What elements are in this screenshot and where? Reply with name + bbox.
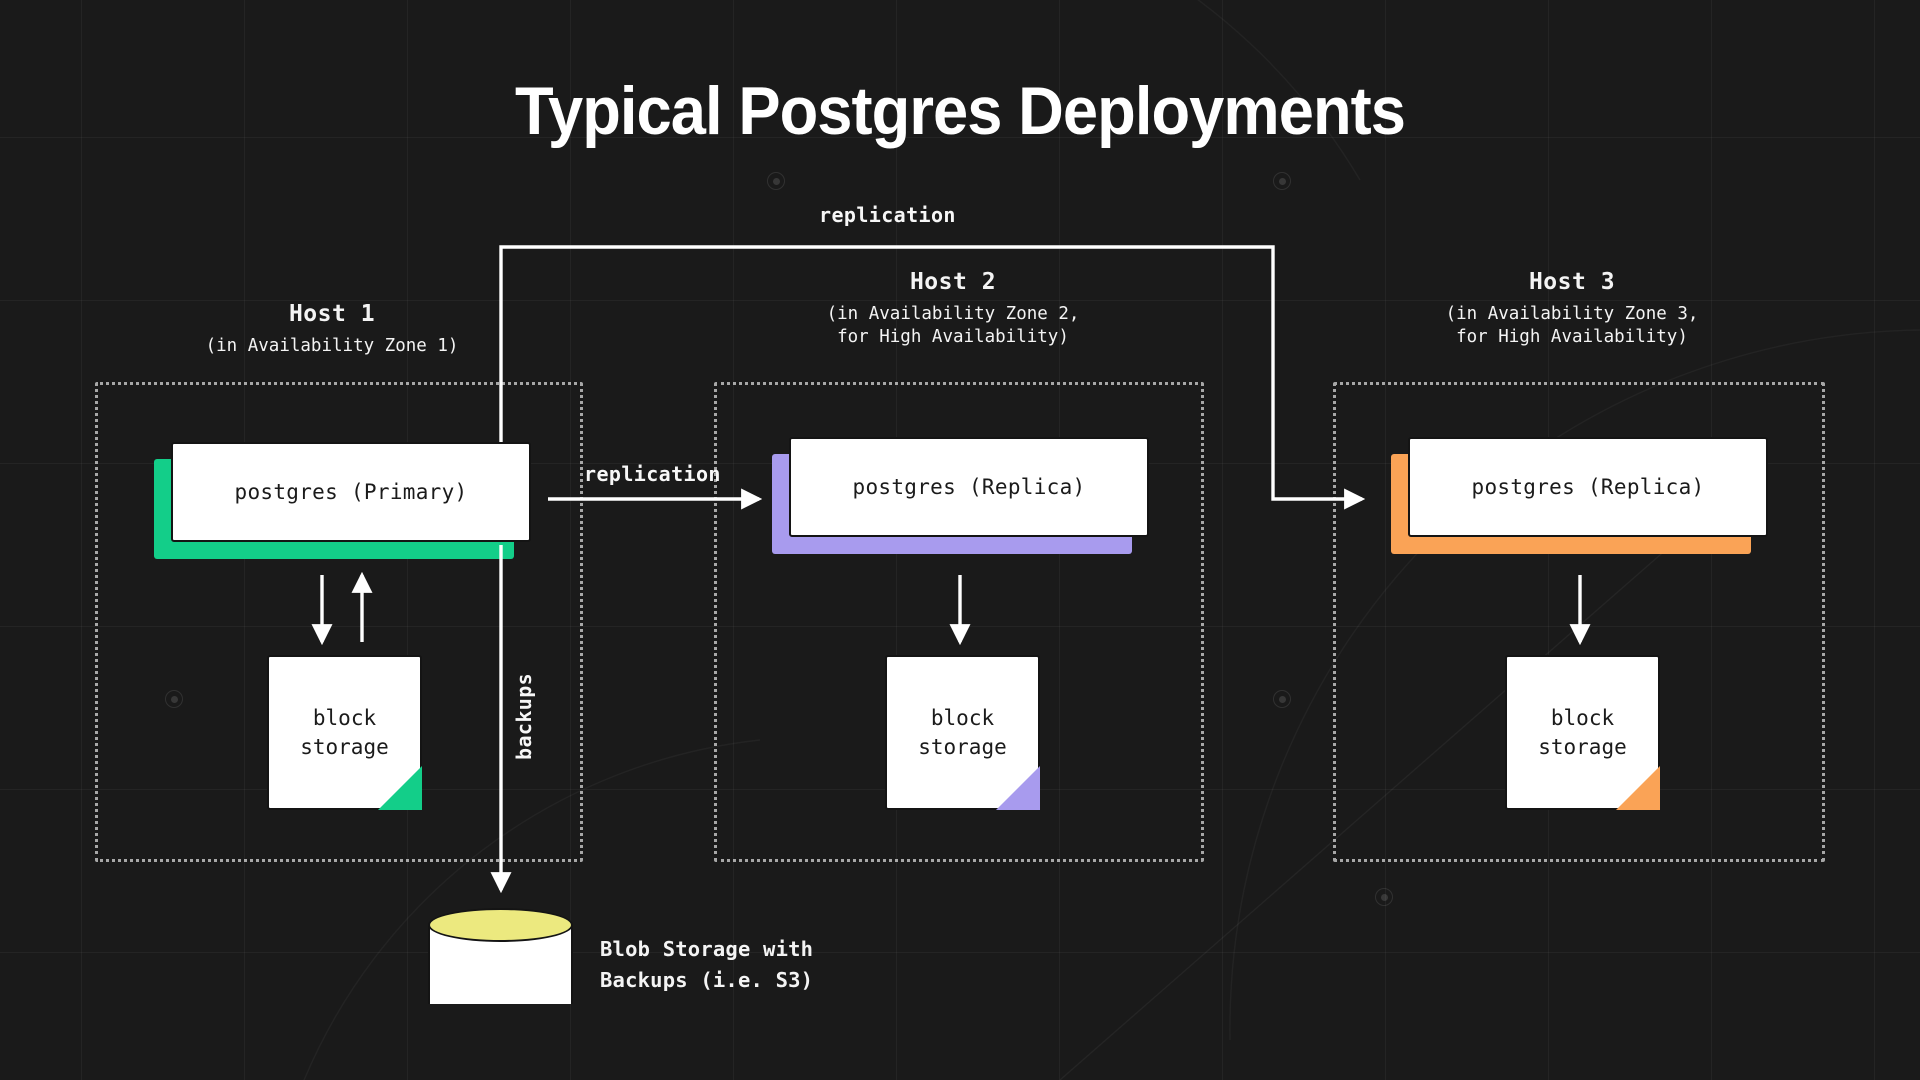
block-storage-1-label-line2: storage: [300, 733, 389, 761]
blob-storage-node[interactable]: [428, 908, 573, 1020]
host-1-name: Host 1: [112, 300, 552, 330]
block-storage-3-box[interactable]: block storage: [1505, 655, 1660, 810]
block-storage-3-label-line1: block: [1551, 704, 1614, 732]
host-3-name: Host 3: [1352, 268, 1792, 298]
block-storage-1-node[interactable]: block storage: [267, 655, 422, 810]
host-2-label: Host 2 (in Availability Zone 2, for High…: [733, 268, 1173, 348]
host-2-az-line2: for High Availability): [733, 326, 1173, 349]
block-storage-2-label-line1: block: [931, 704, 994, 732]
postgres-replica-3-node[interactable]: postgres (Replica): [1408, 437, 1768, 537]
blob-storage-top-icon: [428, 908, 573, 942]
decorative-dot-marker: [767, 172, 785, 190]
block-storage-1-label-line1: block: [313, 704, 376, 732]
postgres-replica-2-node[interactable]: postgres (Replica): [789, 437, 1149, 537]
block-storage-3-node[interactable]: block storage: [1505, 655, 1660, 810]
blob-storage-body-mask: [430, 948, 571, 984]
blob-storage-label-line1: Blob Storage with: [600, 934, 813, 965]
blob-storage-label: Blob Storage with Backups (i.e. S3): [600, 934, 813, 996]
block-storage-1-box[interactable]: block storage: [267, 655, 422, 810]
host-3-az-line1: (in Availability Zone 3,: [1352, 303, 1792, 326]
postgres-replica-2-label: postgres (Replica): [853, 475, 1086, 499]
postgres-replica-3-label: postgres (Replica): [1472, 475, 1705, 499]
host-3-az-line2: for High Availability): [1352, 326, 1792, 349]
postgres-primary-box[interactable]: postgres (Primary): [171, 442, 531, 542]
edge-label-replication-top: replication: [819, 203, 956, 227]
postgres-replica-2-box[interactable]: postgres (Replica): [789, 437, 1149, 537]
decorative-dot-marker: [1273, 690, 1291, 708]
host-1-az: (in Availability Zone 1): [112, 335, 552, 358]
decorative-dot-marker: [1273, 172, 1291, 190]
postgres-primary-node[interactable]: postgres (Primary): [171, 442, 531, 542]
postgres-replica-3-box[interactable]: postgres (Replica): [1408, 437, 1768, 537]
postgres-primary-label: postgres (Primary): [235, 480, 468, 504]
host-1-label: Host 1 (in Availability Zone 1): [112, 300, 552, 358]
block-storage-2-node[interactable]: block storage: [885, 655, 1040, 810]
decorative-dot-marker: [1375, 888, 1393, 906]
host-3-label: Host 3 (in Availability Zone 3, for High…: [1352, 268, 1792, 348]
block-storage-2-label-line2: storage: [918, 733, 1007, 761]
blob-storage-label-line2: Backups (i.e. S3): [600, 965, 813, 996]
edge-label-backups: backups: [512, 673, 536, 760]
host-2-az-line1: (in Availability Zone 2,: [733, 303, 1173, 326]
page-title: Typical Postgres Deployments: [67, 72, 1853, 150]
block-storage-2-box[interactable]: block storage: [885, 655, 1040, 810]
host-2-name: Host 2: [733, 268, 1173, 298]
block-storage-3-label-line2: storage: [1538, 733, 1627, 761]
edge-label-replication-mid: replication: [584, 462, 721, 486]
